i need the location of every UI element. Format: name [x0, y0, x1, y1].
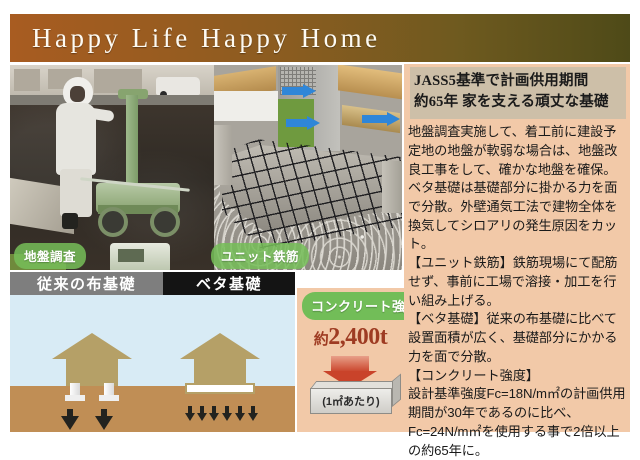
load-arrow-icon	[251, 406, 255, 413]
concrete-edge-right	[382, 161, 402, 213]
panel-paragraph: 【ユニット鉄筋】鉄筋現場にて配筋せず、事前に工場で溶接・加工を行い組み上げる。	[408, 254, 628, 310]
panel-paragraph: 【ベタ基礎】従来の布基礎に比べて設置面積が広く、基礎部分にかかる力を面で分散。	[408, 310, 628, 366]
photo-background-building	[14, 69, 40, 91]
foundation-footing	[99, 395, 119, 401]
airflow-arrow-icon	[307, 116, 320, 130]
load-arrow-icon	[95, 416, 113, 430]
load-arrow-icon	[61, 416, 79, 430]
concrete-edge-left	[214, 125, 232, 185]
panel-title-line-1: JASS5基準で計画供用期間	[414, 71, 622, 92]
label-mat-foundation: ベタ基礎	[163, 272, 295, 295]
load-arrow-icon	[188, 406, 192, 413]
load-arrow-icon	[222, 413, 232, 421]
amount-prefix: 約	[314, 332, 329, 348]
worker-boot	[62, 213, 78, 229]
concrete-strength-amount: 約2,400t	[297, 324, 404, 351]
concrete-block-side	[392, 373, 401, 407]
airflow-arrow-icon	[286, 119, 308, 127]
badge-unit-rebar: ユニット鉄筋	[211, 243, 309, 269]
panel-title: JASS5基準で計画供用期間 約65年 家を支える頑丈な基礎	[410, 67, 626, 119]
load-arrow-icon	[238, 406, 242, 413]
photo-strip	[10, 65, 402, 270]
amount-value: 2,400t	[328, 324, 387, 350]
rig-wheel	[150, 207, 180, 237]
foundation-comparison-diagram	[10, 295, 295, 432]
load-arrow-icon	[185, 413, 195, 421]
load-arrow-icon	[197, 413, 207, 421]
airflow-arrow-icon	[303, 84, 316, 98]
airflow-arrow-icon	[362, 115, 388, 123]
mat-foundation-slab	[185, 383, 255, 394]
panel-paragraph: 【コンクリート強度】	[408, 367, 628, 386]
page-title: Happy Life Happy Home	[10, 23, 381, 54]
panel-title-line-2: 約65年 家を支える頑丈な基礎	[414, 92, 622, 113]
house-body	[194, 356, 246, 386]
page-header: Happy Life Happy Home	[10, 14, 630, 62]
panel-paragraph: 地盤調査実施して、着工前に建設予定地の地盤が軟弱な場合は、地盤改良工事をして、確…	[408, 123, 628, 254]
label-conventional-foundation: 従来の布基礎	[10, 272, 163, 295]
panel-body: 地盤調査実施して、着工前に建設予定地の地盤が軟弱な場合は、地盤改良工事をして、確…	[408, 123, 628, 460]
flyer-page: Happy Life Happy Home	[0, 0, 640, 452]
description-panel: JASS5基準で計画供用期間 約65年 家を支える頑丈な基礎 地盤調査実施して、…	[404, 64, 630, 432]
worker-face	[70, 86, 85, 102]
rig-wheel	[98, 207, 128, 237]
photo-survey-worker	[54, 77, 98, 229]
wall-panel-left	[214, 91, 280, 121]
load-arrow-icon	[235, 413, 245, 421]
photo-drilling-rig	[96, 95, 182, 235]
load-arrow-icon	[209, 413, 219, 421]
airflow-arrow-icon	[282, 87, 304, 95]
load-arrow-icon	[225, 406, 229, 413]
photo-parked-van	[156, 77, 200, 95]
rig-mast	[126, 95, 138, 191]
airflow-arrow-icon	[387, 112, 400, 126]
house-body	[66, 356, 118, 386]
worker-legs	[60, 169, 92, 217]
pressure-arrow-icon	[331, 356, 369, 372]
load-arrow-icon	[248, 413, 258, 421]
concrete-unit-note: (1㎡あたり)	[310, 388, 392, 414]
unit-rebar-photo	[214, 65, 402, 270]
badge-ground-survey: 地盤調査	[14, 243, 86, 269]
load-arrow-icon	[212, 406, 216, 413]
ground-survey-photo	[10, 65, 214, 270]
load-arrow-icon	[200, 406, 204, 413]
rig-control-box	[110, 243, 170, 270]
foundation-footing	[65, 395, 85, 401]
panel-paragraph: 設計基準強度Fc=18N/m㎡の計画供用期間が30年であるのに比べ、Fc=24N…	[408, 385, 628, 460]
